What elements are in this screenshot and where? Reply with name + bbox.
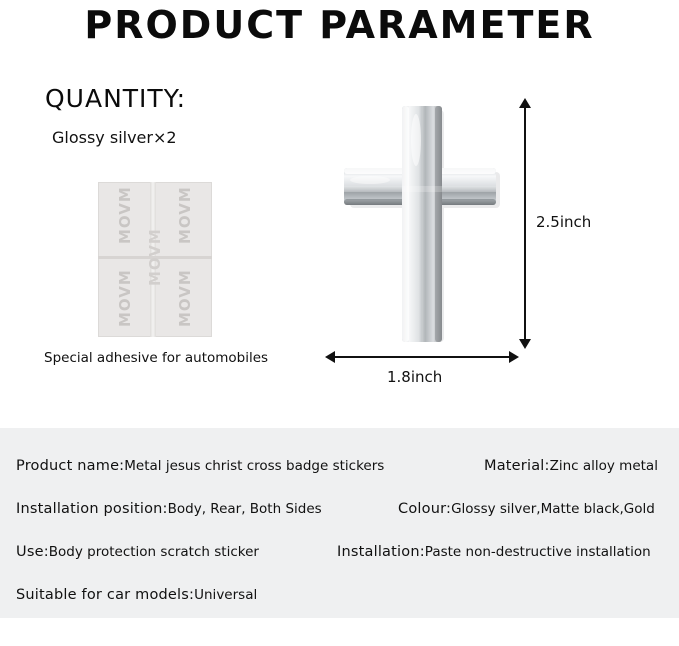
spec-value: Body, Rear, Both Sides — [168, 501, 322, 517]
spec-row: Installation:Paste non-destructive insta… — [337, 544, 651, 560]
cross-badge-image — [330, 100, 520, 350]
arrow-up-icon — [519, 98, 531, 108]
adhesive-caption: Special adhesive for automobiles — [44, 350, 268, 366]
cross-badge-svg — [330, 100, 520, 350]
spec-row: Use:Body protection scratch sticker — [16, 544, 259, 560]
spec-value: Body protection scratch sticker — [49, 544, 259, 560]
spec-value: Universal — [194, 587, 257, 603]
spec-value: Paste non-destructive installation — [425, 544, 651, 560]
adhesive-watermark: MOVM — [146, 228, 164, 286]
spec-row: Suitable for car models:Universal — [16, 587, 257, 603]
height-dimension-label: 2.5inch — [536, 213, 591, 231]
quantity-heading: QUANTITY: — [45, 84, 186, 113]
adhesive-watermark: MOVM — [176, 269, 194, 327]
adhesive-watermark: MOVM — [116, 186, 134, 244]
spec-key: Material: — [484, 458, 550, 474]
spec-row: Material:Zinc alloy metal — [484, 458, 658, 474]
page-title: PRODUCT PARAMETER — [0, 2, 679, 48]
spec-row: Installation position:Body, Rear, Both S… — [16, 501, 322, 517]
spec-key: Use: — [16, 544, 49, 560]
spec-row: Colour:Glossy silver,Matte black,Gold — [398, 501, 655, 517]
width-dimension-label: 1.8inch — [387, 368, 442, 386]
spec-value: Zinc alloy metal — [550, 458, 658, 474]
spec-key: Colour: — [398, 501, 451, 517]
height-dimension-line — [524, 107, 526, 340]
adhesive-watermark: MOVM — [116, 269, 134, 327]
spec-value: Glossy silver,Matte black,Gold — [451, 501, 655, 517]
adhesive-watermark: MOVM — [176, 186, 194, 244]
product-parameter-page: PRODUCT PARAMETER QUANTITY: Glossy silve… — [0, 0, 679, 646]
width-dimension-line — [334, 356, 510, 358]
spec-key: Suitable for car models: — [16, 587, 194, 603]
spec-key: Product name: — [16, 458, 124, 474]
arrow-left-icon — [325, 351, 335, 363]
spec-key: Installation position: — [16, 501, 168, 517]
arrow-right-icon — [509, 351, 519, 363]
spec-key: Installation: — [337, 544, 425, 560]
spec-value: Metal jesus christ cross badge stickers — [124, 458, 384, 474]
spec-row: Product name:Metal jesus christ cross ba… — [16, 458, 384, 474]
adhesive-sheet-image: MOVM MOVM MOVM MOVM MOVM — [98, 182, 212, 337]
quantity-value: Glossy silver×2 — [52, 128, 177, 147]
arrow-down-icon — [519, 339, 531, 349]
